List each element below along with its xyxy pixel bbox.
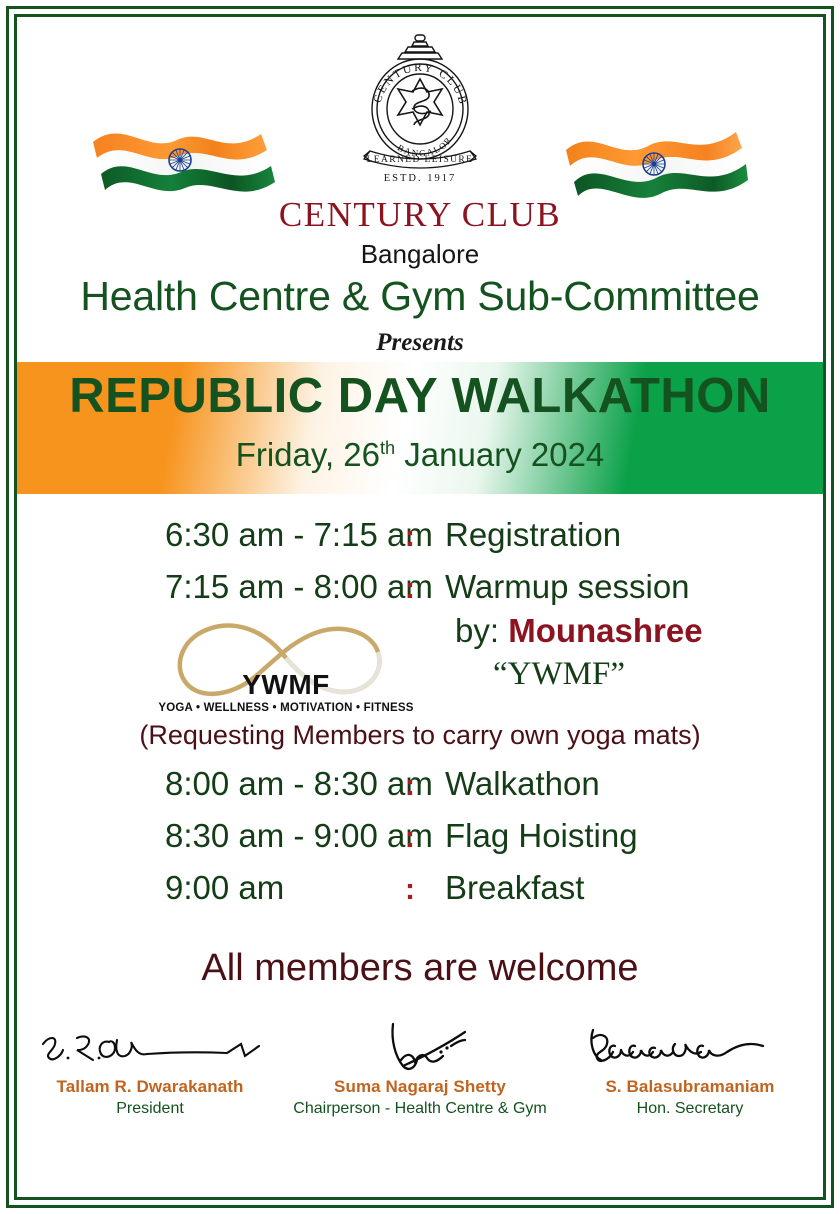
club-name: CENTURY CLUB (17, 195, 823, 235)
warmup-by-label: by: (455, 612, 508, 649)
event-title: REPUBLIC DAY WALKATHON (17, 368, 823, 424)
schedule-time: 9:00 am (87, 869, 397, 907)
ywmf-acronym: YWMF (242, 669, 330, 700)
warmup-brand: “YWMF” (455, 656, 805, 693)
ywmf-logo-icon: YWMF YOGA • WELLNESS • MOTIVATION • FITN… (158, 610, 413, 714)
subcommittee-title: Health Centre & Gym Sub-Committee (17, 273, 823, 320)
schedule-list: 6:30 am - 7:15 am : Registration 7:15 am… (17, 494, 823, 907)
signatory-block: S. Balasubramaniam Hon. Secretary (561, 1022, 819, 1118)
signature-mark-icon (305, 1022, 535, 1076)
crest-arc-text: CENTURY CLUB (372, 62, 469, 107)
signatory-name: Tallam R. Dwarakanath (21, 1077, 279, 1097)
schedule-event: Warmup session (423, 568, 753, 606)
schedule-colon: : (397, 873, 423, 907)
schedule-colon: : (397, 769, 423, 803)
event-date-prefix: Friday, 26 (236, 436, 380, 473)
event-date-suffix: January 2024 (395, 436, 604, 473)
poster-header: CENTURY CLUB BANGALORE LEARNED LEISURE E… (17, 17, 823, 362)
schedule-event: Flag Hoisting (423, 817, 753, 855)
signatory-role: President (21, 1100, 279, 1118)
schedule-time: 8:00 am - 8:30 am (87, 765, 397, 803)
signatory-block: Suma Nagaraj Shetty Chairperson - Health… (291, 1022, 549, 1118)
ywmf-tagline: YOGA • WELLNESS • MOTIVATION • FITNESS (158, 702, 413, 714)
warmup-details-block: YWMF YOGA • WELLNESS • MOTIVATION • FITN… (17, 610, 823, 718)
crest-motto-text: LEARNED LEISURE (367, 155, 474, 165)
event-date: Friday, 26th January 2024 (17, 436, 823, 474)
yoga-mat-note: (Requesting Members to carry own yoga ma… (17, 720, 823, 751)
schedule-row: 8:00 am - 8:30 am : Walkathon (17, 765, 823, 803)
signatory-role: Chairperson - Health Centre & Gym (291, 1100, 549, 1118)
signatory-name: S. Balasubramaniam (561, 1077, 819, 1097)
event-date-ordinal: th (380, 438, 395, 458)
schedule-time: 7:15 am - 8:00 am (87, 568, 397, 606)
signatures-row: Tallam R. Dwarakanath President Suma Nag… (17, 1022, 823, 1118)
club-city: Bangalore (17, 239, 823, 270)
signature-mark-icon (35, 1022, 265, 1076)
schedule-colon: : (397, 572, 423, 606)
schedule-row: 8:30 am - 9:00 am : Flag Hoisting (17, 817, 823, 855)
poster-content: CENTURY CLUB BANGALORE LEARNED LEISURE E… (17, 17, 823, 1197)
crest-established-text: ESTD. 1917 (384, 173, 457, 184)
signatory-name: Suma Nagaraj Shetty (291, 1077, 549, 1097)
schedule-time: 8:30 am - 9:00 am (87, 817, 397, 855)
poster-root: CENTURY CLUB BANGALORE LEARNED LEISURE E… (0, 0, 840, 1214)
schedule-colon: : (397, 821, 423, 855)
warmup-instructor-line: by: Mounashree (455, 612, 805, 650)
warmup-instructor-name: Mounashree (508, 612, 702, 649)
event-banner: REPUBLIC DAY WALKATHON Friday, 26th Janu… (17, 362, 823, 494)
schedule-row: 7:15 am - 8:00 am : Warmup session (17, 568, 823, 606)
schedule-time: 6:30 am - 7:15 am (87, 516, 397, 554)
signature-mark-icon (575, 1022, 805, 1076)
century-club-crest-icon: CENTURY CLUB BANGALORE LEARNED LEISURE E… (356, 31, 484, 186)
indian-flag-left-icon (89, 120, 275, 198)
schedule-row: 6:30 am - 7:15 am : Registration (17, 516, 823, 554)
welcome-message: All members are welcome (17, 947, 823, 990)
presents-label: Presents (17, 329, 823, 357)
signatory-block: Tallam R. Dwarakanath President (21, 1022, 279, 1118)
signatory-role: Hon. Secretary (561, 1100, 819, 1118)
schedule-event: Breakfast (423, 869, 753, 907)
schedule-event: Registration (423, 516, 753, 554)
schedule-event: Walkathon (423, 765, 753, 803)
indian-flag-right-icon (562, 120, 748, 198)
schedule-row: 9:00 am : Breakfast (17, 869, 823, 907)
schedule-colon: : (397, 520, 423, 554)
